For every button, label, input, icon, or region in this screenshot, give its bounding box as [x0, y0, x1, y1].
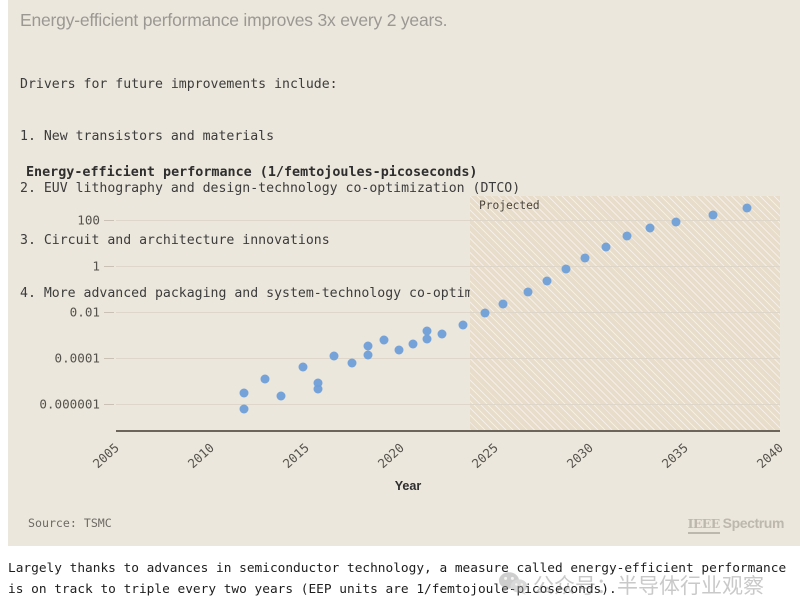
- y-axis-tick: [104, 312, 114, 313]
- y-axis-label: 0.000001: [8, 397, 100, 412]
- data-point: [314, 379, 323, 388]
- data-point: [481, 309, 490, 318]
- gridline: [116, 312, 780, 313]
- data-point: [330, 352, 339, 361]
- data-point: [240, 389, 249, 398]
- x-axis-title: Year: [8, 479, 800, 493]
- data-point: [709, 211, 718, 220]
- x-axis-label: 2015: [279, 440, 311, 471]
- spectrum-wordmark: Spectrum: [723, 515, 784, 531]
- screenshot-root: Energy-efficient performance improves 3x…: [0, 0, 800, 604]
- data-point: [395, 346, 404, 355]
- source-note: Source: TSMC: [28, 516, 112, 530]
- data-point: [524, 288, 533, 297]
- driver-item-1: 1. New transistors and materials: [20, 128, 584, 145]
- scatter-plot: Projected: [116, 196, 780, 430]
- data-point: [277, 392, 286, 401]
- page-title: Energy-efficient performance improves 3x…: [20, 10, 447, 31]
- x-axis-label: 2010: [185, 440, 217, 471]
- ieee-wordmark: IEEE: [688, 516, 720, 534]
- x-axis-label: 2005: [90, 440, 122, 471]
- data-point: [423, 335, 432, 344]
- x-axis-line: [116, 430, 780, 432]
- data-point: [240, 405, 249, 414]
- projected-label: Projected: [479, 199, 540, 212]
- data-point: [646, 224, 655, 233]
- data-point: [672, 218, 681, 227]
- x-axis-label: 2020: [374, 440, 406, 471]
- gridline: [116, 358, 780, 359]
- x-axis-label: 2035: [659, 440, 691, 471]
- y-axis-tick: [104, 358, 114, 359]
- y-axis-tick: [104, 404, 114, 405]
- x-axis-label: 2025: [469, 440, 501, 471]
- figure-caption: Largely thanks to advances in semiconduc…: [8, 558, 792, 600]
- gridline: [116, 266, 780, 267]
- y-axis-label: 0.0001: [8, 351, 100, 366]
- data-point: [261, 375, 270, 384]
- data-point: [623, 232, 632, 241]
- data-point: [423, 327, 432, 336]
- ieee-spectrum-logo: IEEE Spectrum: [688, 515, 784, 534]
- data-point: [438, 330, 447, 339]
- data-point: [602, 243, 611, 252]
- y-axis-label: 100: [8, 213, 100, 228]
- data-point: [499, 300, 508, 309]
- data-point: [348, 359, 357, 368]
- data-point: [364, 351, 373, 360]
- data-point: [299, 363, 308, 372]
- chart-title: Energy-efficient performance (1/femtojou…: [26, 165, 477, 180]
- data-point: [364, 342, 373, 351]
- gridline: [116, 404, 780, 405]
- data-point: [743, 204, 752, 213]
- data-point: [459, 321, 468, 330]
- y-axis-label: 1: [8, 259, 100, 274]
- y-axis-tick: [104, 266, 114, 267]
- y-axis-tick: [104, 220, 114, 221]
- drivers-intro: Drivers for future improvements include:: [20, 76, 584, 93]
- data-point: [581, 254, 590, 263]
- x-axis-label: 2030: [564, 440, 596, 471]
- data-point: [380, 336, 389, 345]
- data-point: [409, 340, 418, 349]
- x-axis-label: 2040: [754, 440, 786, 471]
- data-point: [562, 265, 571, 274]
- y-axis-label: 0.01: [8, 305, 100, 320]
- data-point: [543, 277, 552, 286]
- infographic-card: Energy-efficient performance improves 3x…: [8, 0, 800, 546]
